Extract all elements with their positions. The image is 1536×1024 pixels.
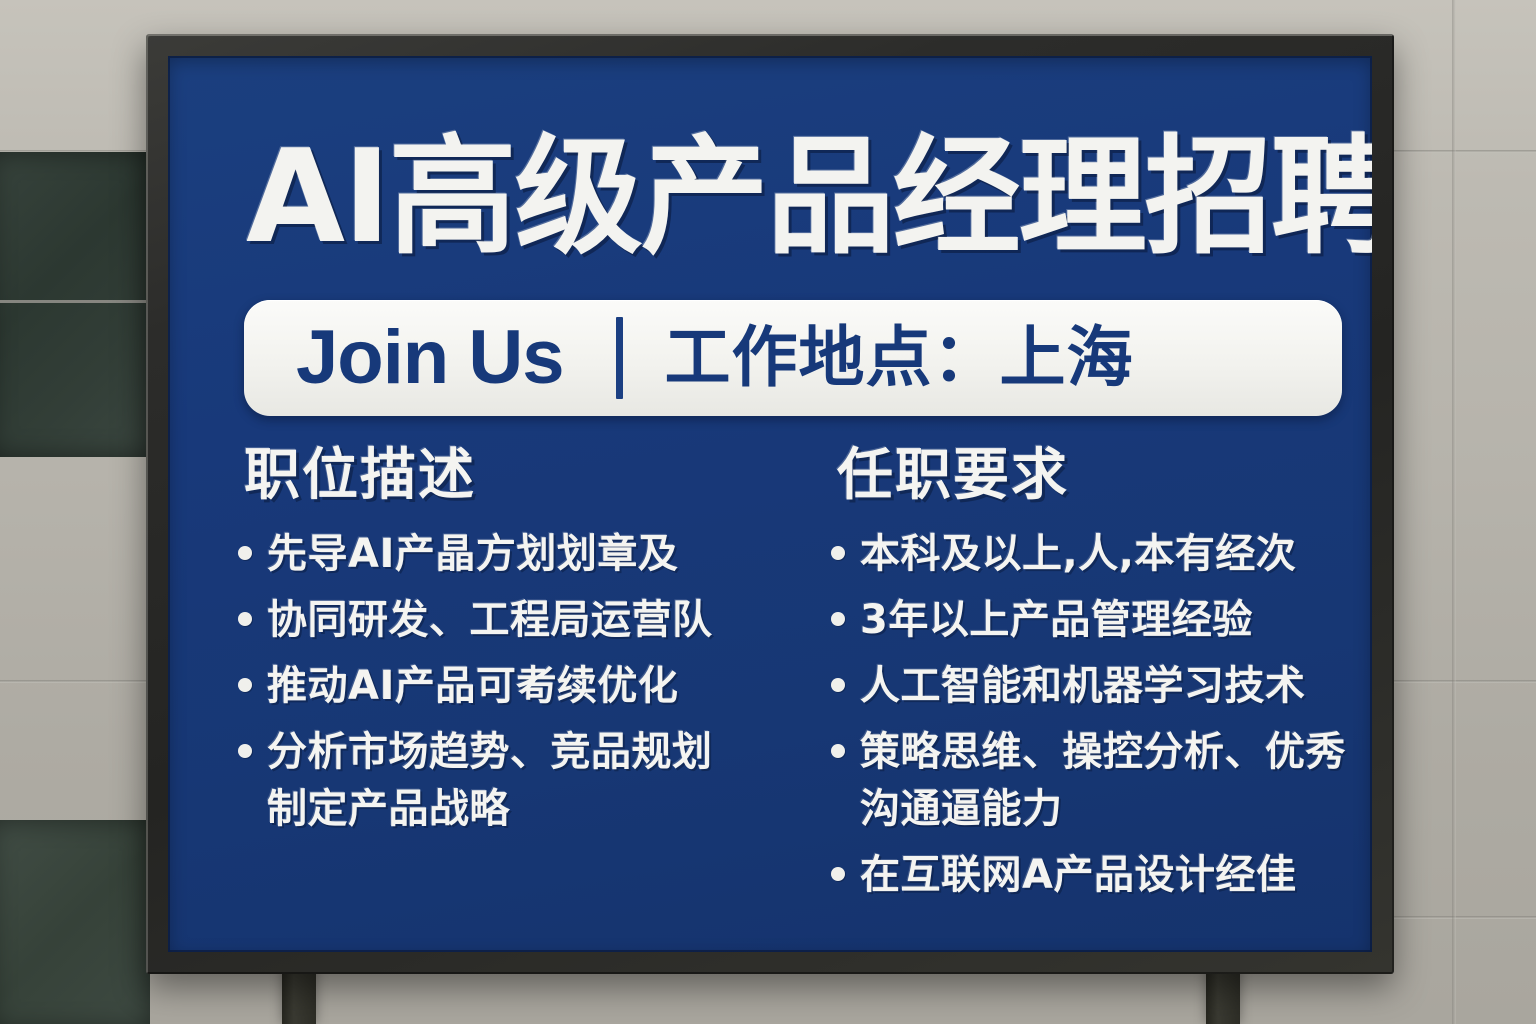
sign-panel: AI高级产品经理招聘 Join Us 工作地点：上海 职位描述 先导AI产晶方划… (168, 56, 1372, 952)
list-item-label: 推动AI产品可耇续优化 (267, 658, 678, 715)
list-item-label: 本科及以上,人,本有经次 (860, 526, 1296, 583)
window-mullion (0, 300, 150, 303)
bullet-dot-icon (238, 612, 252, 626)
title-container: AI高级产品经理招聘 (246, 122, 1372, 282)
join-us-banner: Join Us 工作地点：上海 (244, 300, 1342, 416)
sign-frame: AI高级产品经理招聘 Join Us 工作地点：上海 职位描述 先导AI产晶方划… (146, 34, 1394, 974)
list-item: 策略思维、操控分析、优秀 沟通逼能力 (831, 724, 1368, 838)
facade-seam-vertical (1452, 0, 1456, 1024)
billboard-scene: AI高级产品经理招聘 Join Us 工作地点：上海 职位描述 先导AI产晶方划… (0, 0, 1536, 1024)
bullet-dot-icon (831, 744, 845, 758)
list-item-line-1: 分析市场趋势、竞品规划 (267, 729, 713, 775)
window-pane (0, 152, 150, 457)
column-requirements: 任职要求 本科及以上,人,本有经次 3年以上产品管理经验 人工智能和机器学 (831, 446, 1368, 913)
bullet-dot-icon (831, 867, 845, 881)
list-item-label: 3年以上产品管理经验 (860, 592, 1253, 649)
column-job-description: 职位描述 先导AI产晶方划划章及 协同研发、工程局运营队 推动AI产品可耇 (238, 446, 775, 913)
window-pane (0, 820, 150, 1024)
requirements-list: 本科及以上,人,本有经次 3年以上产品管理经验 人工智能和机器学习技术 (831, 526, 1368, 904)
list-item-label: 人工智能和机器学习技术 (860, 658, 1306, 715)
bullet-dot-icon (238, 744, 252, 758)
column-heading: 任职要求 (837, 446, 1368, 506)
content-columns: 职位描述 先导AI产晶方划划章及 协同研发、工程局运营队 推动AI产品可耇 (238, 446, 1368, 913)
bullet-dot-icon (831, 678, 845, 692)
list-item-line-2: 沟通逼能力 (860, 781, 1346, 838)
list-item-label: 在互联网A产品设计经佳 (860, 847, 1296, 904)
bullet-dot-icon (831, 612, 845, 626)
list-item: 本科及以上,人,本有经次 (831, 526, 1368, 583)
list-item-line-1: 策略思维、操控分析、优秀 (860, 729, 1346, 775)
list-item-label: 协同研发、工程局运营队 (267, 592, 713, 649)
list-item: 人工智能和机器学习技术 (831, 658, 1368, 715)
bullet-dot-icon (238, 546, 252, 560)
bullet-dot-icon (831, 546, 845, 560)
list-item: 分析市场趋势、竞品规划 制定产品战略 (238, 724, 775, 838)
column-heading: 职位描述 (244, 446, 775, 506)
list-item: 推动AI产品可耇续优化 (238, 658, 775, 715)
banner-divider-icon (616, 317, 623, 399)
sign-leg-right (1206, 966, 1240, 1024)
sign-leg-left (282, 966, 316, 1024)
page-title: AI高级产品经理招聘 (246, 122, 1372, 274)
work-location-label: 工作地点：上海 (665, 325, 1134, 391)
bullet-dot-icon (238, 678, 252, 692)
list-item: 在互联网A产品设计经佳 (831, 847, 1368, 904)
list-item-label-wrapped: 策略思维、操控分析、优秀 沟通逼能力 (860, 724, 1346, 838)
list-item-label: 先导AI产晶方划划章及 (267, 526, 678, 583)
list-item: 协同研发、工程局运营队 (238, 592, 775, 649)
list-item: 3年以上产品管理经验 (831, 592, 1368, 649)
list-item: 先导AI产晶方划划章及 (238, 526, 775, 583)
list-item-label-wrapped: 分析市场趋势、竞品规划 制定产品战略 (267, 724, 713, 838)
list-item-line-2: 制定产品战略 (267, 781, 713, 838)
join-us-label: Join Us (296, 320, 564, 396)
job-description-list: 先导AI产晶方划划章及 协同研发、工程局运营队 推动AI产品可耇续优化 (238, 526, 775, 838)
